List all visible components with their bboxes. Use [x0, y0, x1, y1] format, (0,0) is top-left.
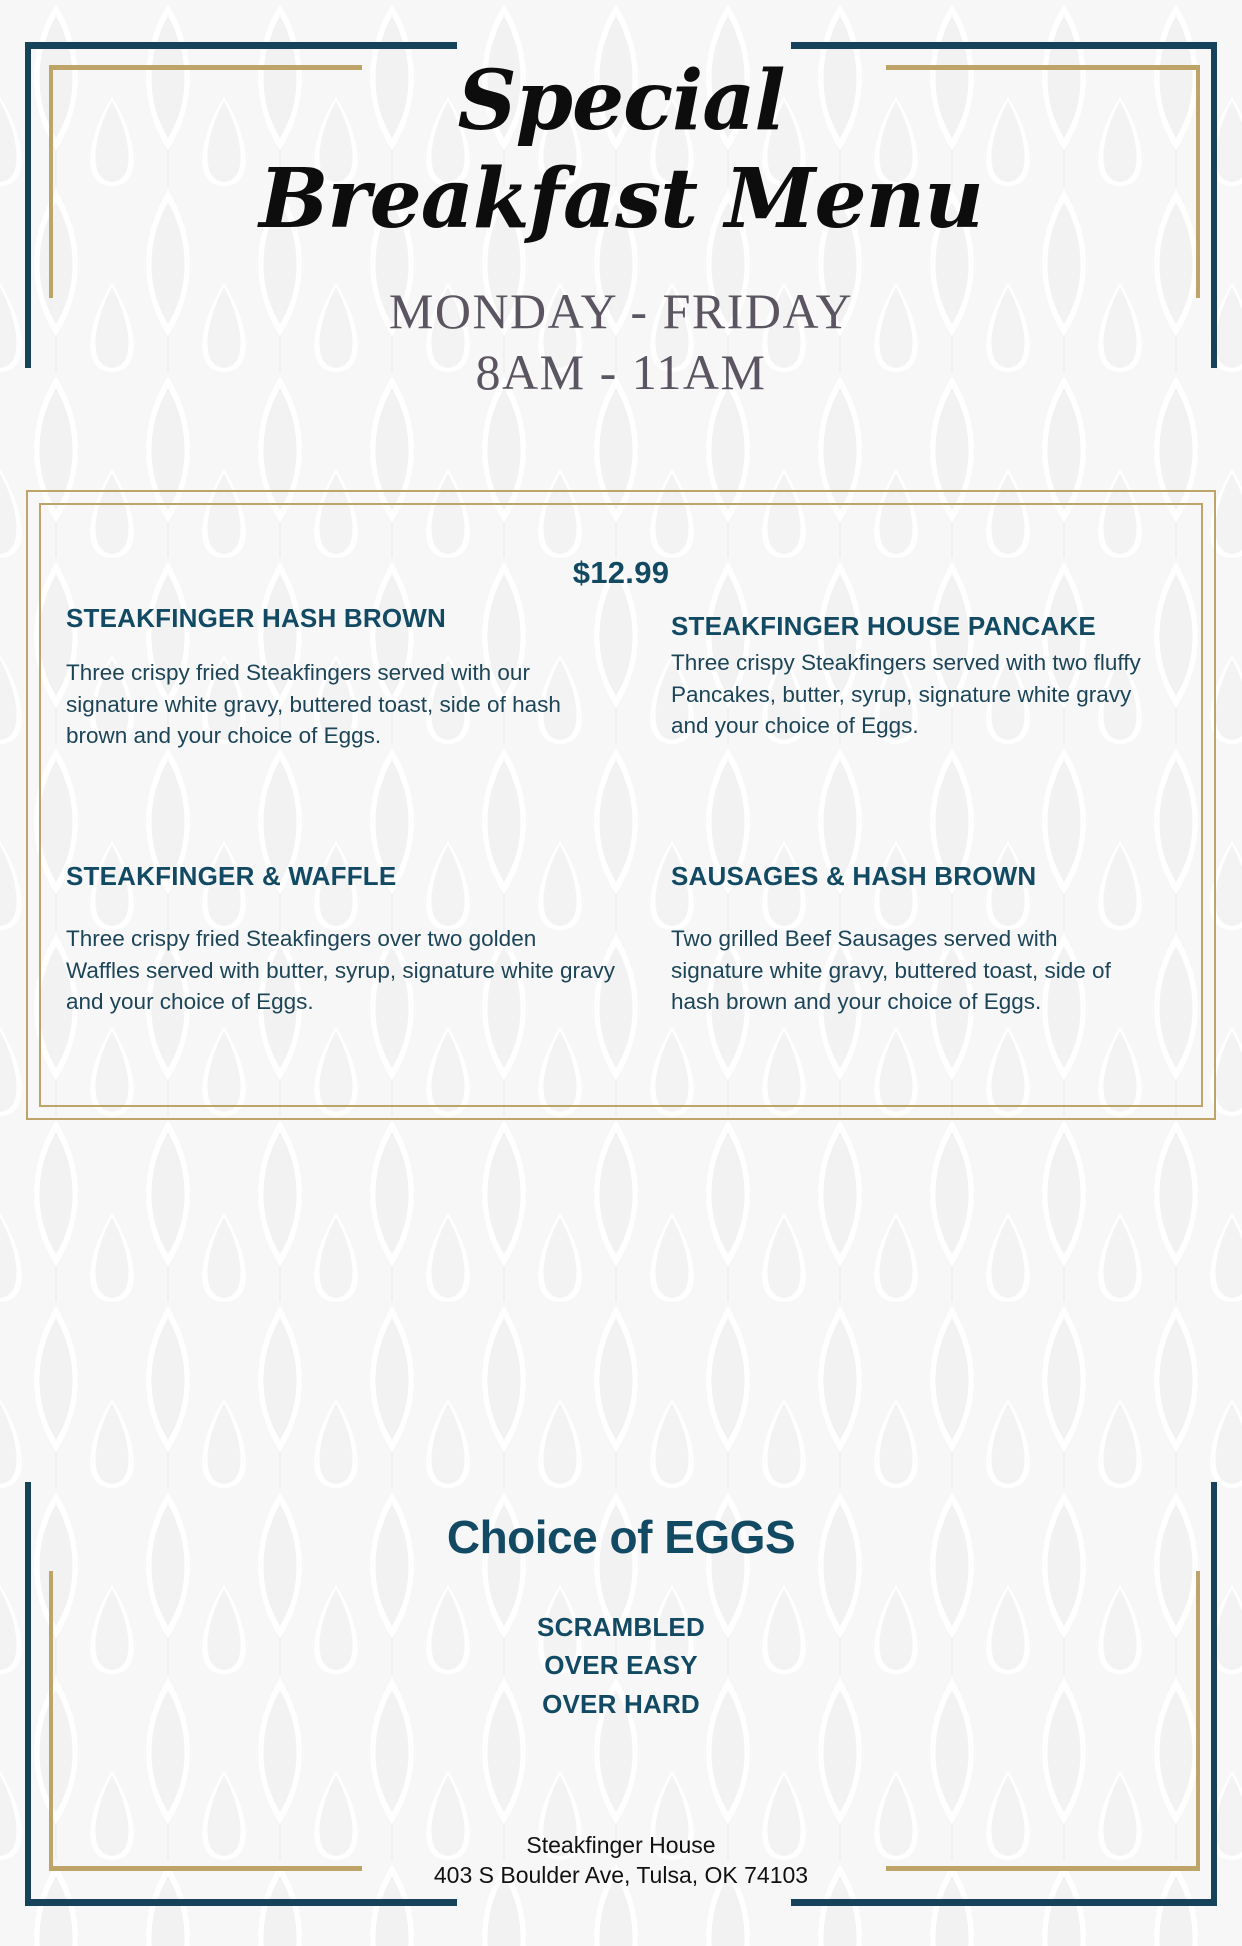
top-frame-navy-right — [791, 42, 1217, 49]
footer-business-name: Steakfinger House — [0, 1830, 1242, 1860]
eggs-options-list: SCRAMBLED OVER EASY OVER HARD — [0, 1608, 1242, 1723]
eggs-option: SCRAMBLED — [0, 1608, 1242, 1646]
menu-item: SAUSAGES & HASH BROWN Two grilled Beef S… — [656, 752, 1192, 1018]
schedule-block: MONDAY - FRIDAY 8AM - 11AM — [0, 281, 1242, 403]
menu-item: STEAKFINGER HASH BROWN Three crispy frie… — [66, 602, 656, 752]
menu-poster: Special Breakfast Menu MONDAY - FRIDAY 8… — [0, 0, 1242, 1946]
bottom-frame-navy-left — [25, 1899, 457, 1906]
menu-items-grid: STEAKFINGER HASH BROWN Three crispy frie… — [66, 602, 1192, 1018]
top-frame-navy-left — [25, 42, 457, 49]
menu-item-description: Two grilled Beef Sausages served with si… — [671, 923, 1152, 1018]
poster-title-special: Special — [0, 60, 1242, 144]
poster-title-breakfast-menu: Breakfast Menu — [0, 158, 1242, 242]
footer: Steakfinger House 403 S Boulder Ave, Tul… — [0, 1830, 1242, 1891]
menu-item-title: STEAKFINGER & WAFFLE — [66, 860, 616, 893]
eggs-section-heading: Choice of EGGS — [0, 1510, 1242, 1564]
menu-card: $12.99 STEAKFINGER HASH BROWN Three cris… — [26, 490, 1216, 1120]
footer-address: 403 S Boulder Ave, Tulsa, OK 74103 — [0, 1860, 1242, 1890]
eggs-option: OVER HARD — [0, 1685, 1242, 1723]
menu-price: $12.99 — [28, 555, 1214, 591]
menu-item: STEAKFINGER & WAFFLE Three crispy fried … — [66, 752, 656, 1018]
menu-item-description: Three crispy fried Steakfingers over two… — [66, 923, 616, 1018]
eggs-option: OVER EASY — [0, 1646, 1242, 1684]
schedule-hours: 8AM - 11AM — [0, 342, 1242, 403]
menu-item-title: STEAKFINGER HASH BROWN — [66, 602, 616, 635]
poster-header: Special Breakfast Menu MONDAY - FRIDAY 8… — [0, 60, 1242, 403]
bottom-frame-navy-right — [791, 1899, 1217, 1906]
menu-item: STEAKFINGER HOUSE PANCAKE Three crispy S… — [656, 602, 1192, 752]
schedule-days: MONDAY - FRIDAY — [0, 281, 1242, 342]
menu-item-description: Three crispy fried Steakfingers served w… — [66, 657, 616, 752]
menu-item-description: Three crispy Steakfingers served with tw… — [671, 647, 1152, 742]
menu-item-title: SAUSAGES & HASH BROWN — [671, 860, 1152, 893]
menu-item-title: STEAKFINGER HOUSE PANCAKE — [671, 610, 1152, 643]
choice-of-eggs-section: Choice of EGGS SCRAMBLED OVER EASY OVER … — [0, 1510, 1242, 1723]
